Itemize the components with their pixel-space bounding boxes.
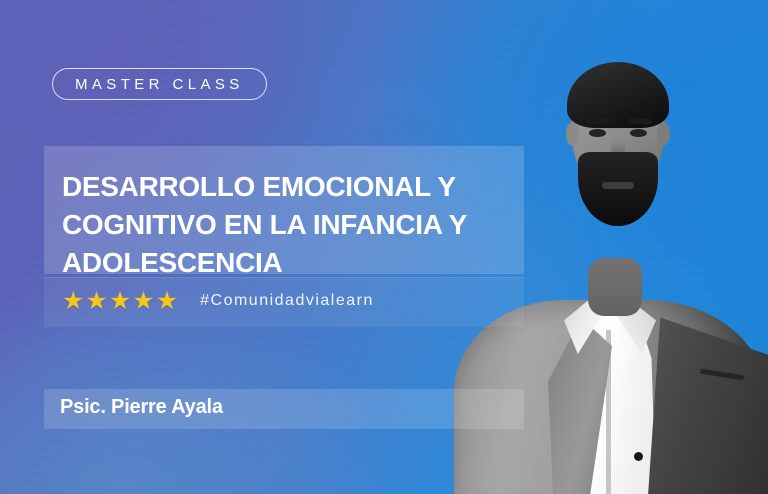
masterclass-banner: MASTER CLASS DESARROLLO EMOCIONAL Y COGN… bbox=[0, 0, 768, 494]
presenter-eye-right bbox=[630, 129, 647, 137]
master-class-badge-label: MASTER CLASS bbox=[75, 77, 244, 92]
rating-row: ★ ★ ★ ★ ★ #Comunidadvialearn bbox=[62, 286, 374, 316]
title-line-3: ADOLESCENCIA bbox=[62, 244, 532, 282]
presenter-jacket-button bbox=[634, 452, 643, 461]
title-line-1: DESARROLLO EMOCIONAL Y bbox=[62, 168, 532, 206]
presenter-mouth bbox=[602, 182, 634, 189]
presenter-lapel-right bbox=[648, 306, 768, 494]
page-title: DESARROLLO EMOCIONAL Y COGNITIVO EN LA I… bbox=[62, 168, 532, 282]
presenter-neck bbox=[588, 258, 642, 316]
star-icon: ★ bbox=[85, 289, 107, 314]
star-icon: ★ bbox=[132, 289, 154, 314]
presenter-ear-left bbox=[566, 122, 579, 146]
star-icon: ★ bbox=[109, 289, 131, 314]
star-icon: ★ bbox=[156, 289, 178, 314]
presenter-beard bbox=[578, 152, 658, 226]
star-rating: ★ ★ ★ ★ ★ bbox=[62, 289, 178, 314]
master-class-badge: MASTER CLASS bbox=[52, 68, 267, 100]
presenter-hair bbox=[567, 62, 669, 128]
star-icon: ★ bbox=[62, 289, 84, 314]
presenter-ear-right bbox=[657, 122, 670, 146]
presenter-name: Psic. Pierre Ayala bbox=[60, 396, 223, 419]
community-hashtag: #Comunidadvialearn bbox=[200, 292, 374, 310]
presenter-eye-left bbox=[589, 129, 606, 137]
title-line-2: COGNITIVO EN LA INFANCIA Y bbox=[62, 206, 532, 244]
